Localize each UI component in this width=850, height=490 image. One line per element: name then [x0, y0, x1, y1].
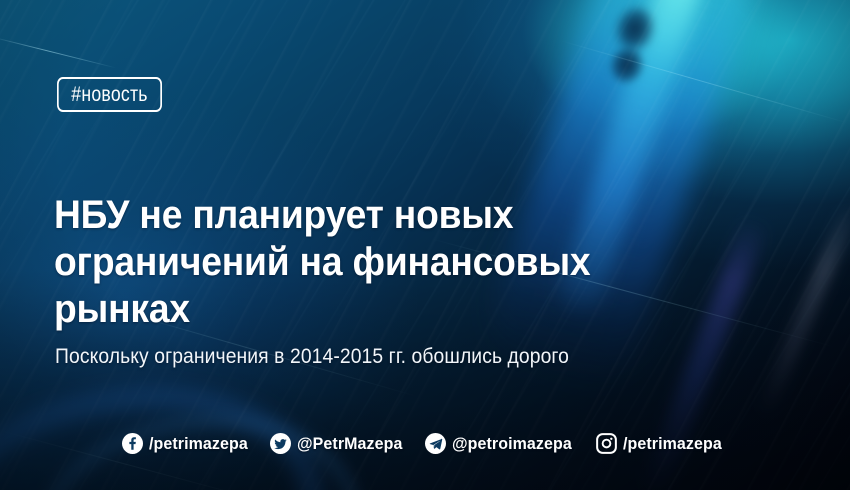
news-banner-card: #новость НБУ не планирует новых ограниче… [0, 0, 850, 490]
social-handle-instagram: /petrimazepa [623, 434, 722, 454]
banner-content: #новость НБУ не планирует новых ограниче… [0, 0, 850, 490]
twitter-icon [270, 433, 291, 454]
page-title: НБУ не планирует новых ограничений на фи… [54, 192, 668, 333]
facebook-icon [122, 433, 143, 454]
page-subtitle: Поскольку ограничения в 2014-2015 гг. об… [55, 344, 569, 370]
social-link-twitter[interactable]: @PetrMazepa [270, 433, 409, 454]
social-links-bar: /petrimazepa @PetrMazepa @petroimazepa [0, 433, 850, 454]
social-link-instagram[interactable]: /petrimazepa [596, 433, 728, 454]
social-link-telegram[interactable]: @petroimazepa [425, 433, 579, 454]
social-link-facebook[interactable]: /petrimazepa [122, 433, 254, 454]
social-handle-twitter: @PetrMazepa [297, 434, 402, 454]
instagram-icon [596, 433, 617, 454]
social-handle-telegram: @petroimazepa [452, 434, 572, 454]
category-tag-badge[interactable]: #новость [57, 77, 162, 112]
telegram-icon [425, 433, 446, 454]
social-handle-facebook: /petrimazepa [149, 434, 248, 454]
